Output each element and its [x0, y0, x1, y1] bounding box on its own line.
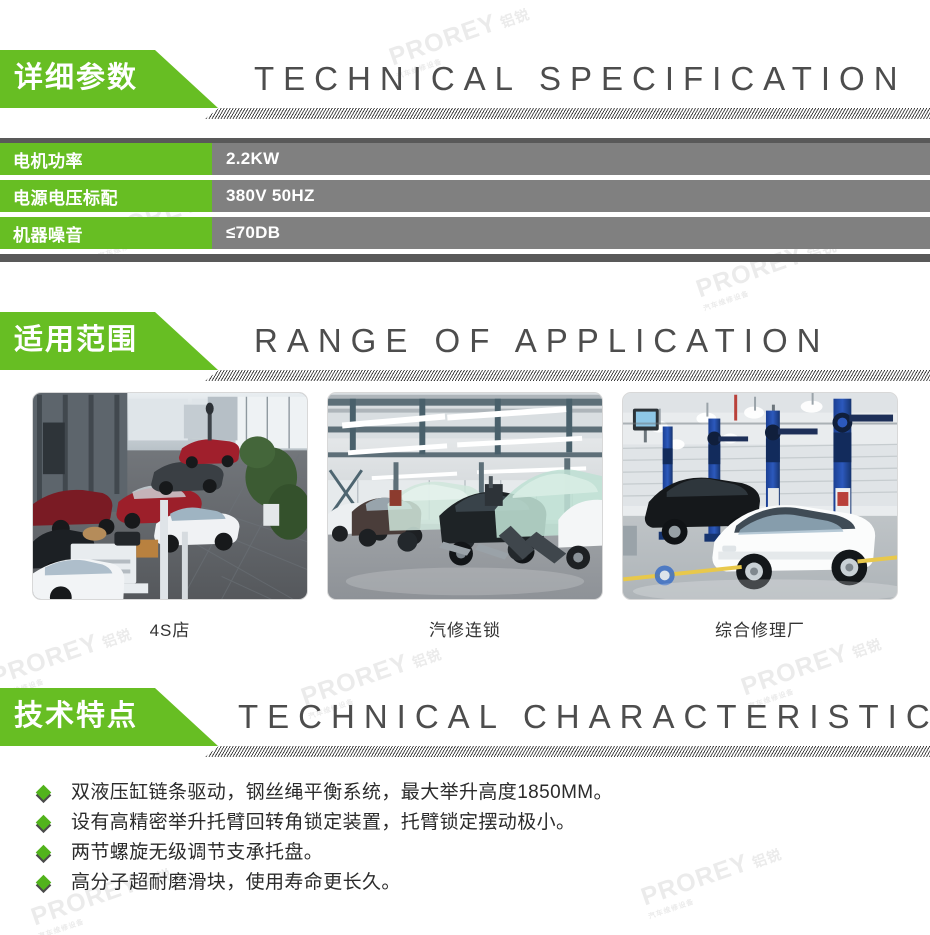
diamond-bullet-icon — [36, 815, 52, 831]
list-item: 双液压缸链条驱动，钢丝绳平衡系统，最大举升高度1850MM。 — [38, 780, 930, 810]
diamond-bullet-icon — [36, 785, 52, 801]
hatch-divider — [205, 108, 930, 119]
watermark-sub: 汽车维修设备 — [702, 257, 843, 314]
section-title-en: TECHNICAL CHARACTERISTICS — [238, 688, 930, 746]
list-item: 设有高精密举升托臂回转角锁定装置，托臂锁定摆动极小。 — [38, 810, 930, 840]
specification-table: 电机功率 2.2KW 电源电压标配 380V 50HZ 机器噪音 ≤70DB — [0, 138, 930, 262]
section-header-range-of-application: 适用范围 RANGE OF APPLICATION — [0, 312, 930, 384]
photo-auto-repair-chain-workshop[interactable] — [327, 392, 603, 600]
watermark-cn: 铝锐 — [498, 6, 532, 31]
product-spec-page: PROREY 铝锐 汽车维修设备 PROREY 铝锐 汽车维修设备 PROREY… — [0, 0, 930, 935]
hatch-divider — [205, 746, 930, 757]
spec-value: 2.2KW — [212, 143, 930, 175]
spec-value: 380V 50HZ — [212, 180, 930, 212]
section-title-cn: 详细参数 — [14, 64, 138, 95]
photo-general-repair-garage[interactable] — [622, 392, 898, 600]
section-header-technical-characteristics: 技术特点 TECHNICAL CHARACTERISTICS — [0, 688, 930, 760]
table-bottom-rule — [0, 254, 930, 262]
section-title-badge: 技术特点 — [0, 688, 218, 746]
hatch-divider — [205, 370, 930, 381]
photo-car-dealership-showroom[interactable] — [32, 392, 308, 600]
feature-text: 高分子超耐磨滑块，使用寿命更长久。 — [71, 870, 401, 896]
diamond-bullet-icon — [36, 875, 52, 891]
gallery-caption: 汽修连锁 — [327, 616, 603, 641]
spec-value: ≤70DB — [212, 217, 930, 249]
section-header-technical-specification: 详细参数 TECHNICAL SPECIFICATION — [0, 50, 930, 122]
gallery-item: 4S店 — [32, 392, 308, 641]
watermark-cn: 铝锐 — [410, 646, 444, 671]
gallery-item: 汽修连锁 — [327, 392, 603, 641]
table-row: 电源电压标配 380V 50HZ — [0, 180, 930, 212]
spec-label: 机器噪音 — [0, 217, 212, 249]
diamond-bullet-icon — [36, 845, 52, 861]
section-title-badge: 适用范围 — [0, 312, 218, 370]
spec-label: 电机功率 — [0, 143, 212, 175]
feature-text: 双液压缸链条驱动，钢丝绳平衡系统，最大举升高度1850MM。 — [71, 780, 613, 806]
section-title-cn: 适用范围 — [14, 326, 138, 357]
technical-characteristics-list: 双液压缸链条驱动，钢丝绳平衡系统，最大举升高度1850MM。 设有高精密举升托臂… — [0, 780, 930, 900]
table-row: 电机功率 2.2KW — [0, 143, 930, 175]
section-title-cn: 技术特点 — [14, 702, 138, 733]
gallery-item: 综合修理厂 — [622, 392, 898, 641]
section-title-badge: 详细参数 — [0, 50, 218, 108]
section-title-en: TECHNICAL SPECIFICATION — [254, 50, 907, 108]
feature-text: 设有高精密举升托臂回转角锁定装置，托臂锁定摆动极小。 — [71, 810, 575, 836]
gallery-caption: 4S店 — [32, 616, 308, 641]
gallery-caption: 综合修理厂 — [622, 616, 898, 641]
table-row: 机器噪音 ≤70DB — [0, 217, 930, 249]
spec-label: 电源电压标配 — [0, 180, 212, 212]
application-gallery: 4S店 — [0, 392, 930, 641]
list-item: 高分子超耐磨滑块，使用寿命更长久。 — [38, 870, 930, 900]
feature-text: 两节螺旋无级调节支承托盘。 — [71, 840, 323, 866]
list-item: 两节螺旋无级调节支承托盘。 — [38, 840, 930, 870]
section-title-en: RANGE OF APPLICATION — [254, 312, 829, 370]
